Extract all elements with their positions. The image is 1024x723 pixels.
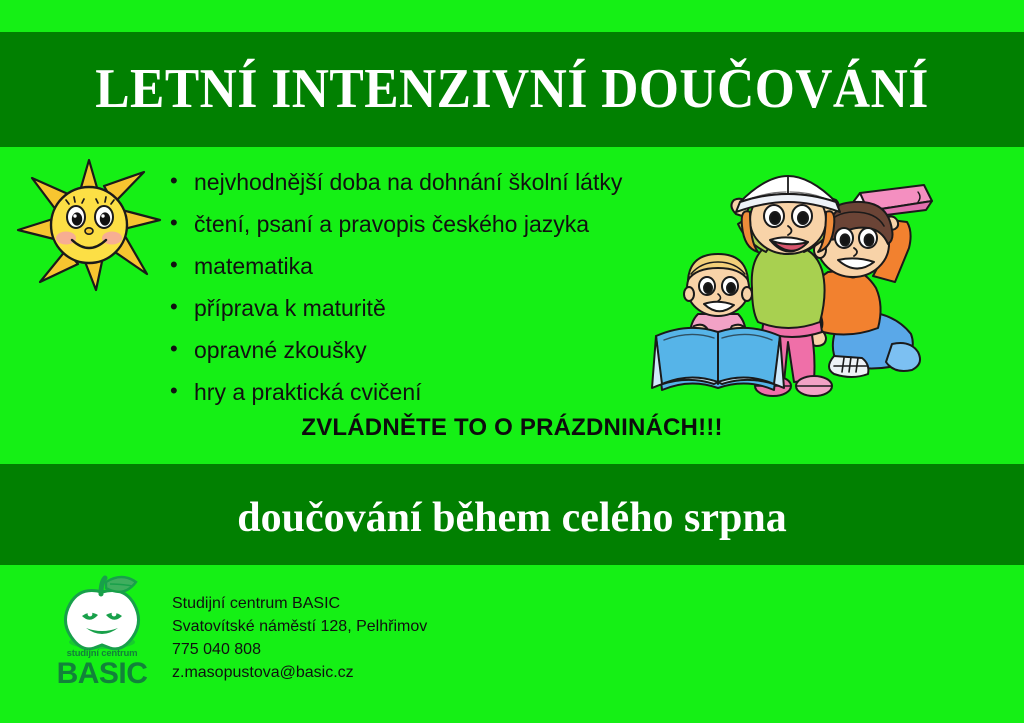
benefits-list: nejvhodnější doba na dohnání školní látk…: [168, 166, 622, 418]
contact-phone[interactable]: 775 040 808: [172, 638, 427, 661]
apple-logo-icon: [52, 574, 152, 652]
list-item: hry a praktická cvičení: [168, 376, 622, 408]
contact-address: Svatovítské náměstí 128, Pelhřimov: [172, 615, 427, 638]
list-item: příprava k maturitě: [168, 292, 622, 324]
page-title: LETNÍ INTENZIVNÍ DOUČOVÁNÍ: [41, 56, 983, 122]
contact-block: Studijní centrum BASIC Svatovítské náměs…: [172, 592, 427, 684]
list-item: nejvhodnější doba na dohnání školní látk…: [168, 166, 622, 198]
list-item: čtení, psaní a pravopis českého jazyka: [168, 208, 622, 240]
list-item: opravné zkoušky: [168, 334, 622, 366]
basic-logo: studijní centrum BASIC: [52, 574, 152, 689]
contact-organization: Studijní centrum BASIC: [172, 592, 427, 615]
august-headline: doučování během celého srpna: [0, 494, 1024, 542]
list-item: matematika: [168, 250, 622, 282]
smiling-sun-icon: [16, 158, 162, 292]
slogan-text: ZVLÁDNĚTE TO O PRÁZDNINÁCH!!!: [0, 414, 1024, 442]
poster-canvas: LETNÍ INTENZIVNÍ DOUČOVÁNÍ: [0, 0, 1024, 723]
logo-wordmark: BASIC: [52, 659, 152, 689]
three-children-with-books-illustration: [648, 168, 988, 410]
contact-email[interactable]: z.masopustova@basic.cz: [172, 661, 427, 684]
